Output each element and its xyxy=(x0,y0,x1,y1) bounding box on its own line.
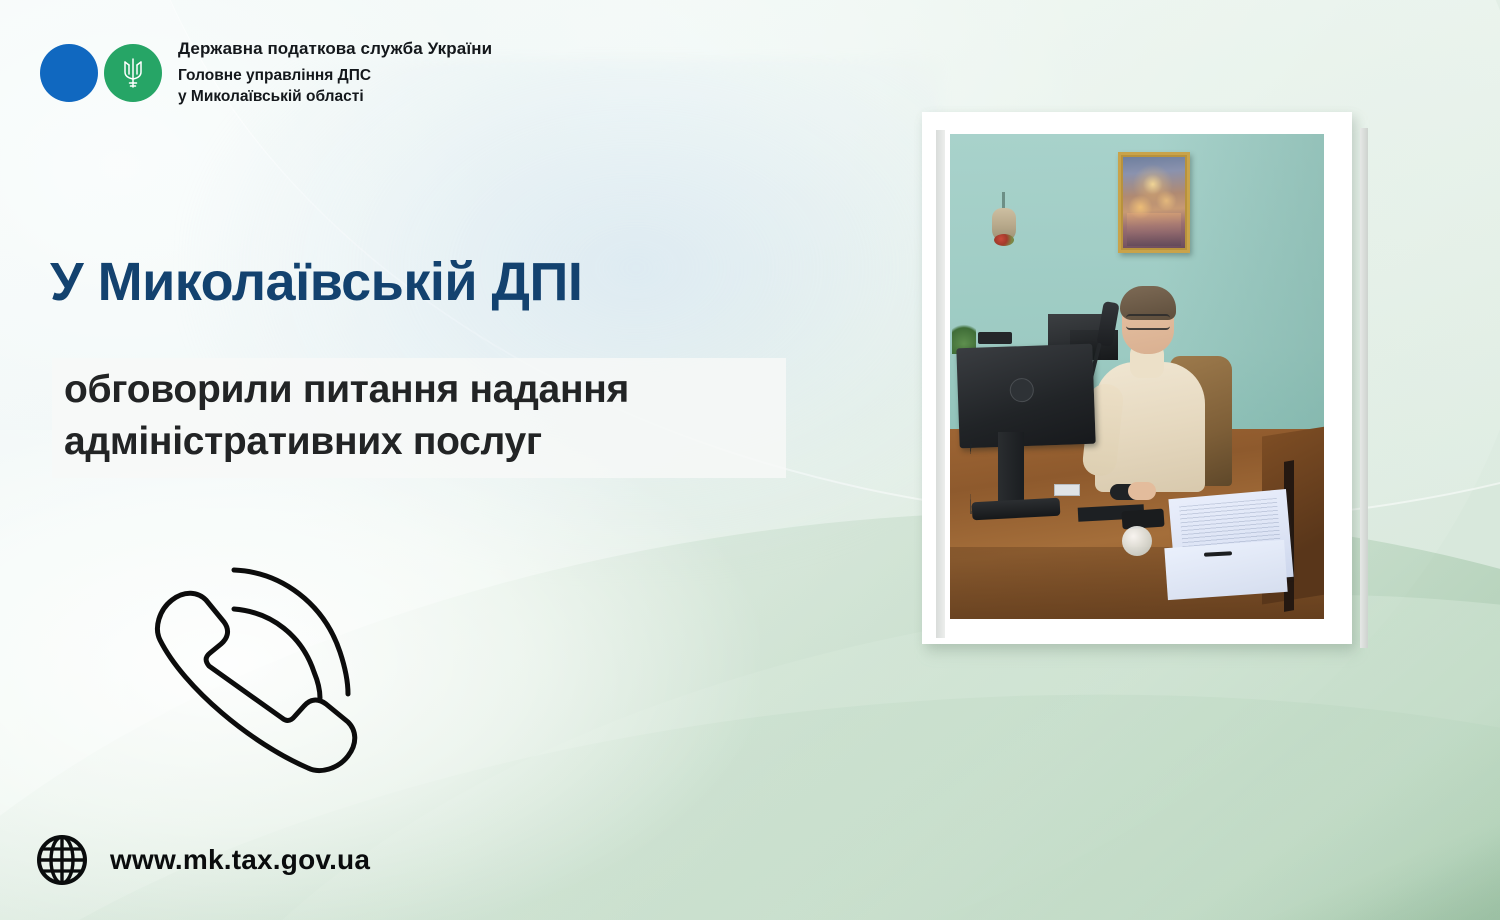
painting-canvas xyxy=(1123,157,1185,248)
documents-stack-lower xyxy=(1164,540,1287,600)
logo-marks xyxy=(40,44,162,102)
blue-dot-logo xyxy=(40,44,98,102)
ukraine-trident-emblem xyxy=(104,44,162,102)
monitor-label-sticker xyxy=(1054,484,1080,496)
department-name-line1: Головне управління ДПС xyxy=(178,65,492,86)
organization-name: Державна податкова служба України xyxy=(178,38,492,61)
photo-frame-inner-edge-right xyxy=(1360,128,1368,648)
poster-canvas: Державна податкова служба України Головн… xyxy=(0,0,1500,920)
monitor-top-bar xyxy=(978,332,1012,344)
department-name-line2: у Миколаївській області xyxy=(178,86,492,107)
woman-hand xyxy=(1128,482,1156,500)
dell-monitor xyxy=(956,344,1095,449)
page-title: У Миколаївській ДПІ xyxy=(50,251,582,313)
eyeglasses xyxy=(1126,314,1170,330)
globe-icon xyxy=(36,834,88,886)
desk-cables xyxy=(970,444,1010,514)
hanging-dried-flower-bundle xyxy=(992,208,1016,242)
photo-card xyxy=(922,112,1362,657)
dell-logo xyxy=(1009,378,1034,403)
brand-text: Державна податкова служба України Головн… xyxy=(178,38,492,108)
footer-bar: www.mk.tax.gov.ua xyxy=(36,834,370,886)
website-url[interactable]: www.mk.tax.gov.ua xyxy=(110,844,370,876)
photo-frame-inner-edge-left xyxy=(936,130,945,638)
office-photo xyxy=(950,134,1324,619)
brand-header: Державна податкова служба України Головн… xyxy=(40,38,492,108)
page-subtitle: обговорили питання надання адміністратив… xyxy=(64,364,794,468)
telephone-handset-icon xyxy=(132,548,432,778)
framed-cityscape-painting xyxy=(1118,152,1190,253)
snow-globe-ornament xyxy=(1122,526,1152,556)
